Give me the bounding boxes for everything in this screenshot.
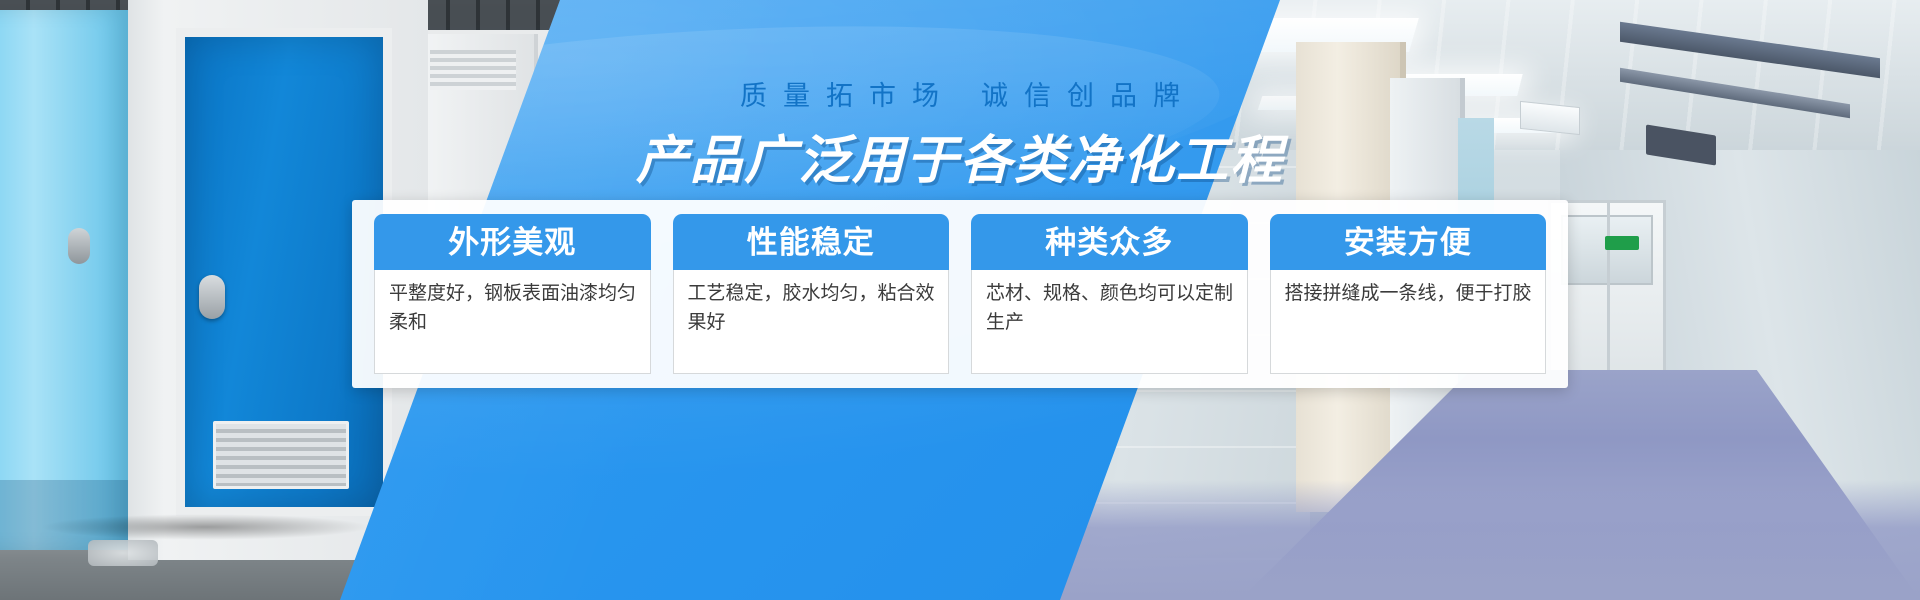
feature-card-title: 种类众多	[971, 214, 1248, 270]
door-handle	[199, 275, 225, 319]
feature-card-body: 工艺稳定，胶水均匀，粘合效果好	[673, 270, 950, 374]
feature-card-body: 搭接拼缝成一条线，便于打胶	[1270, 270, 1547, 374]
promo-banner: 质量拓市场诚信创品牌 产品广泛用于各类净化工程 外形美观 平整度好，钢板表面油漆…	[0, 0, 1920, 600]
feature-card[interactable]: 安装方便 搭接拼缝成一条线，便于打胶	[1270, 214, 1547, 374]
exit-sign-icon	[1605, 236, 1639, 250]
cabin-unit-left	[0, 10, 137, 550]
feature-card-title: 外形美观	[374, 214, 651, 270]
corridor-floor-foreground	[1060, 480, 1920, 600]
floor-shadow	[40, 514, 370, 540]
floor-drain	[88, 540, 158, 566]
feature-card-body: 芯材、规格、颜色均可以定制生产	[971, 270, 1248, 374]
door-lock	[68, 228, 90, 264]
feature-card[interactable]: 种类众多 芯材、规格、颜色均可以定制生产	[971, 214, 1248, 374]
feature-cards-panel: 外形美观 平整度好，钢板表面油漆均匀柔和 性能稳定 工艺稳定，胶水均匀，粘合效果…	[352, 200, 1568, 388]
feature-card[interactable]: 外形美观 平整度好，钢板表面油漆均匀柔和	[374, 214, 651, 374]
feature-card-title: 安装方便	[1270, 214, 1547, 270]
feature-card[interactable]: 性能稳定 工艺稳定，胶水均匀，粘合效果好	[673, 214, 950, 374]
door-vent-louver	[213, 421, 349, 489]
feature-card-body: 平整度好，钢板表面油漆均匀柔和	[374, 270, 651, 374]
feature-card-title: 性能稳定	[673, 214, 950, 270]
